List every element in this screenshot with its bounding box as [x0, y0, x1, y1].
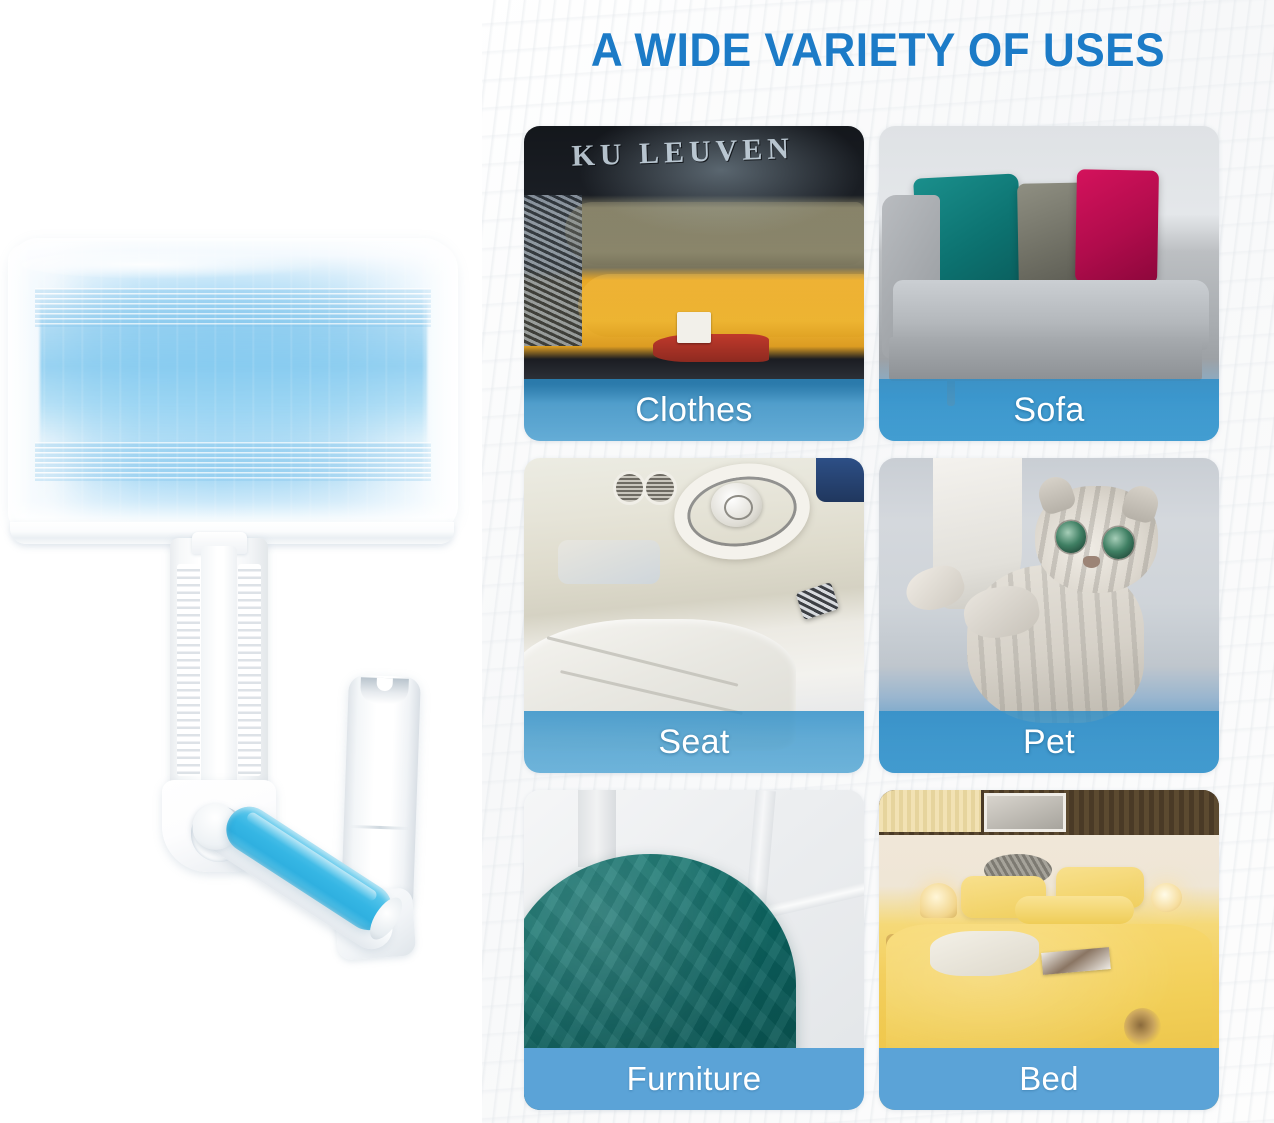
use-label-pet: Pet — [879, 711, 1219, 773]
bed-bolster — [1015, 896, 1134, 925]
ceiling-valance — [879, 790, 981, 832]
use-tile-clothes[interactable]: KU LEUVEN Clothes — [524, 126, 864, 441]
bedside-lamp-right — [1151, 883, 1182, 912]
mini-handle-seam — [350, 825, 410, 830]
cover-rib-lines-bottom — [35, 442, 431, 480]
air-vent-right — [646, 474, 673, 502]
uses-row-3: Furniture — [524, 790, 1274, 1110]
use-label-clothes: Clothes — [524, 379, 864, 441]
cover-right-edge — [422, 241, 458, 531]
frosted-roller-cover — [8, 238, 458, 534]
page-title: A WIDE VARIETY OF USES — [506, 22, 1250, 77]
olive-sweater-fold — [565, 202, 864, 265]
bedside-lamp-left — [920, 883, 957, 918]
throw-blanket — [930, 931, 1039, 976]
care-label-tag — [677, 312, 711, 344]
use-label-furniture: Furniture — [524, 1048, 864, 1110]
uses-row-2: Seat Pet — [524, 458, 1274, 773]
use-label-seat: Seat — [524, 711, 864, 773]
center-console — [558, 540, 660, 584]
mini-handle-notch — [360, 677, 409, 705]
kitten-eye-right — [1103, 527, 1134, 559]
uses-panel: A WIDE VARIETY OF USES KU LEUVEN Clothes — [482, 0, 1274, 1123]
window-accent — [816, 458, 864, 502]
use-tile-furniture[interactable]: Furniture — [524, 790, 864, 1110]
cover-highlight — [22, 250, 324, 280]
framed-wall-art — [984, 793, 1066, 831]
use-label-sofa: Sofa — [879, 379, 1219, 441]
metal-pedal — [796, 582, 840, 621]
uses-tile-grid: KU LEUVEN Clothes — [524, 126, 1274, 1123]
cover-rib-lines-top — [35, 288, 431, 326]
shirt-graphic-text: KU LEUVEN — [571, 131, 845, 203]
yellow-garment-fold — [578, 274, 864, 337]
air-vent-left — [616, 474, 643, 502]
window-post — [578, 790, 615, 867]
steering-wheel-hub — [711, 483, 762, 527]
product-photo-panel — [0, 0, 482, 1123]
kitten-eye-left — [1056, 521, 1087, 553]
cover-left-edge — [8, 244, 30, 528]
magenta-cushion — [1075, 169, 1159, 284]
use-tile-seat[interactable]: Seat — [524, 458, 864, 773]
use-tile-pet[interactable]: Pet — [879, 458, 1219, 773]
use-tile-sofa[interactable]: Sofa — [879, 126, 1219, 441]
sofa-base — [889, 337, 1202, 381]
product-feature-image: A WIDE VARIETY OF USES KU LEUVEN Clothes — [0, 0, 1274, 1123]
uses-row-1: KU LEUVEN Clothes — [524, 126, 1274, 441]
use-label-bed: Bed — [879, 1048, 1219, 1110]
use-tile-bed[interactable]: Bed — [879, 790, 1219, 1110]
duvet-embroidery — [1124, 1008, 1161, 1046]
mini-travel-lint-roller — [160, 676, 460, 1056]
large-lint-roller-with-cover — [8, 238, 458, 534]
